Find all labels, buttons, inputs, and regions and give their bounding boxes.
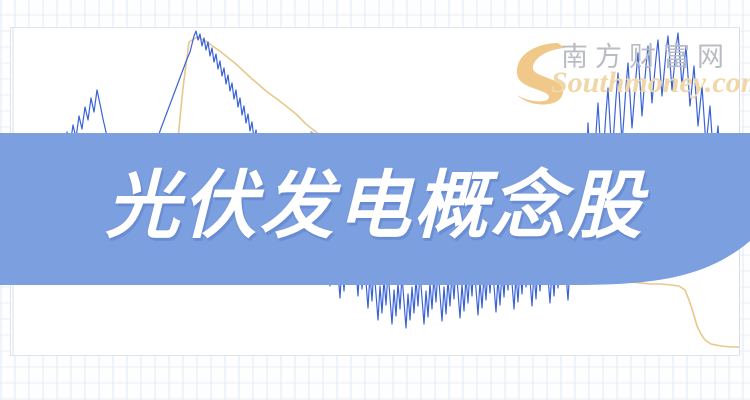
moving-average-grey-line — [311, 132, 740, 268]
poster-canvas: 南方财富网 Southmoney.com 光伏发电概念股 — [0, 0, 750, 400]
stock-chart-svg — [11, 28, 740, 356]
stock-chart-panel — [10, 27, 740, 356]
